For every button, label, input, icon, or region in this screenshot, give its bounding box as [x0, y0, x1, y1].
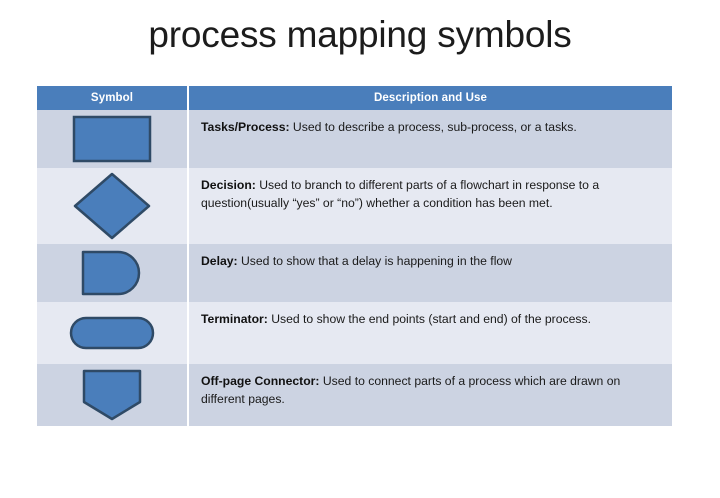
symbol-description: Used to branch to different parts of a f… [201, 178, 599, 210]
table-header-row: Symbol Description and Use [37, 86, 672, 110]
delay-icon [80, 249, 144, 297]
symbol-cell [37, 110, 188, 168]
symbol-description: Used to describe a process, sub-process,… [290, 120, 577, 134]
symbol-legend-table: Symbol Description and Use Tasks/Process… [37, 86, 672, 426]
symbol-description: Used to show that a delay is happening i… [238, 254, 512, 268]
description-cell: Decision: Used to branch to different pa… [188, 168, 672, 244]
table-body: Tasks/Process: Used to describe a proces… [37, 110, 672, 426]
table-row: Decision: Used to branch to different pa… [37, 168, 672, 244]
description-cell: Off-page Connector: Used to connect part… [188, 364, 672, 426]
diamond-icon [72, 171, 152, 241]
rectangle-icon [72, 115, 152, 163]
description-cell: Delay: Used to show that a delay is happ… [188, 244, 672, 302]
symbol-term: Delay: [201, 254, 238, 268]
description-cell: Terminator: Used to show the end points … [188, 302, 672, 364]
table-row: Tasks/Process: Used to describe a proces… [37, 110, 672, 168]
symbol-description: Used to show the end points (start and e… [268, 312, 591, 326]
table-row: Off-page Connector: Used to connect part… [37, 364, 672, 426]
column-header-symbol: Symbol [37, 86, 188, 110]
table-row: Terminator: Used to show the end points … [37, 302, 672, 364]
symbol-term: Tasks/Process: [201, 120, 290, 134]
symbol-cell [37, 364, 188, 426]
symbol-cell [37, 244, 188, 302]
pentagon-icon [81, 368, 143, 422]
symbol-cell [37, 168, 188, 244]
table-row: Delay: Used to show that a delay is happ… [37, 244, 672, 302]
symbol-term: Terminator: [201, 312, 268, 326]
table-header: Symbol Description and Use [37, 86, 672, 110]
column-header-description: Description and Use [188, 86, 672, 110]
symbol-term: Decision: [201, 178, 256, 192]
symbol-cell [37, 302, 188, 364]
description-cell: Tasks/Process: Used to describe a proces… [188, 110, 672, 168]
stadium-icon [69, 316, 155, 350]
symbol-term: Off-page Connector: [201, 374, 319, 388]
page-title: process mapping symbols [0, 14, 720, 57]
